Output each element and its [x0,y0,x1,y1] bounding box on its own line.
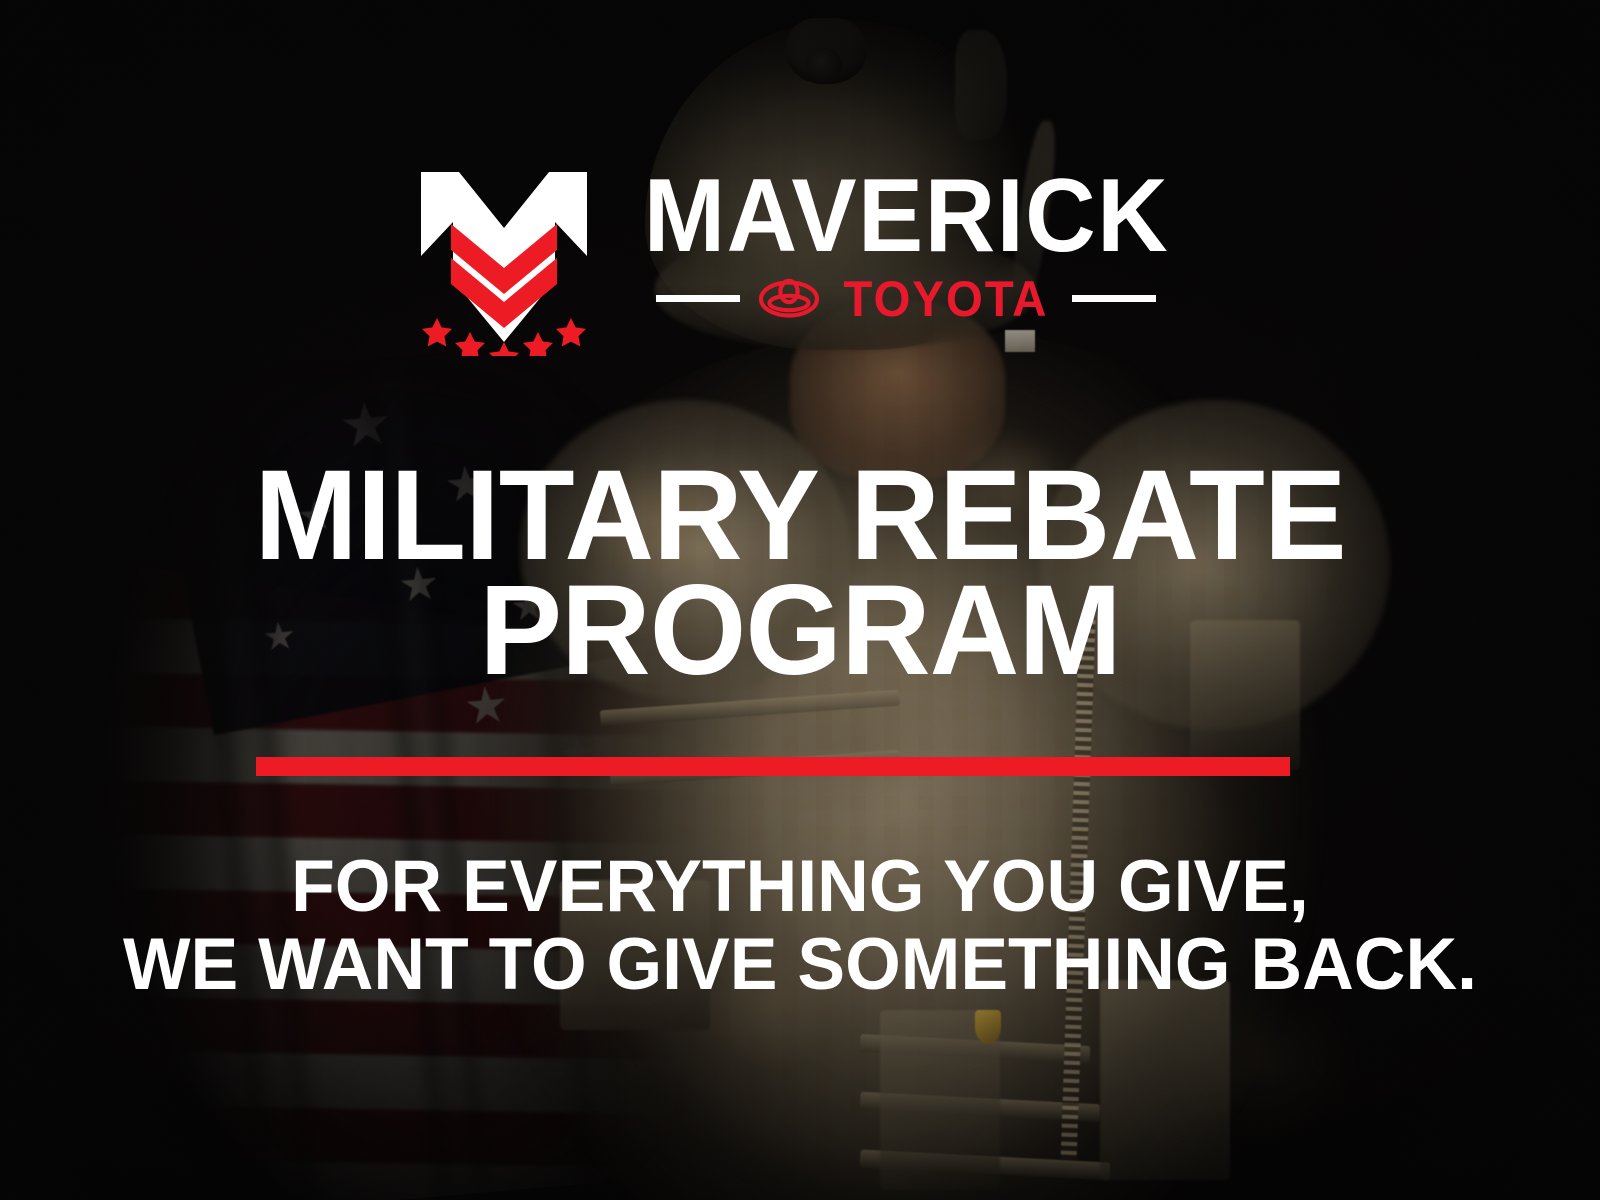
brand-text-block: MAVERICK TOYOTA [627,160,1186,324]
brand-name: MAVERICK [643,166,1168,268]
red-divider-rule [256,757,1290,776]
maverick-chevron-m-emblem-icon [415,160,593,356]
brand-logo-lockup: MAVERICK TOYOTA [0,160,1600,356]
page-title: MILITARY REBATE PROGRAM [24,458,1576,688]
military-rebate-poster: ★ ★ ★ ★ ★ ★ ★ ★ [0,0,1600,1200]
sub-brand-rule-right [1072,295,1156,302]
tagline: FOR EVERYTHING YOU GIVE, WE WANT TO GIVE… [16,848,1584,1004]
headline-line-2: PROGRAM [24,573,1576,688]
tagline-line-2: WE WANT TO GIVE SOMETHING BACK. [16,926,1584,1004]
sub-brand-name: TOYOTA [844,274,1049,324]
sub-brand-rule-left [656,295,740,302]
toyota-emblem-icon [758,278,820,320]
poster-content: MAVERICK TOYOTA [0,0,1600,1200]
sub-brand-row: TOYOTA [627,274,1186,324]
headline-line-1: MILITARY REBATE [24,458,1576,573]
tagline-line-1: FOR EVERYTHING YOU GIVE, [16,848,1584,926]
